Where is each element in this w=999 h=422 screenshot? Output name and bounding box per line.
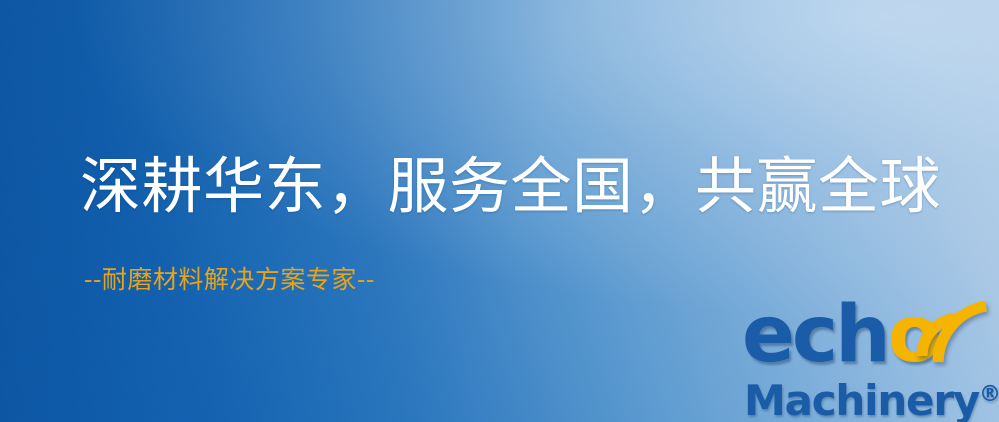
- signal-waves-icon: [914, 292, 994, 368]
- promotional-banner: 深耕华东，服务全国，共赢全球 --耐磨材料解决方案专家-- echo Machi…: [0, 0, 999, 422]
- page-subtitle: --耐磨材料解决方案专家--: [84, 264, 375, 296]
- logo-tagline: Machinery®: [744, 372, 999, 422]
- page-title: 深耕华东，服务全国，共赢全球: [80, 152, 941, 222]
- logo-wordmark: echo: [742, 296, 938, 374]
- registered-trademark-icon: ®: [979, 382, 999, 407]
- logo-wordmark-primary: ech: [742, 290, 888, 380]
- logo-tagline-text: Machinery: [744, 376, 979, 422]
- company-logo[interactable]: echo Machinery®: [742, 296, 994, 420]
